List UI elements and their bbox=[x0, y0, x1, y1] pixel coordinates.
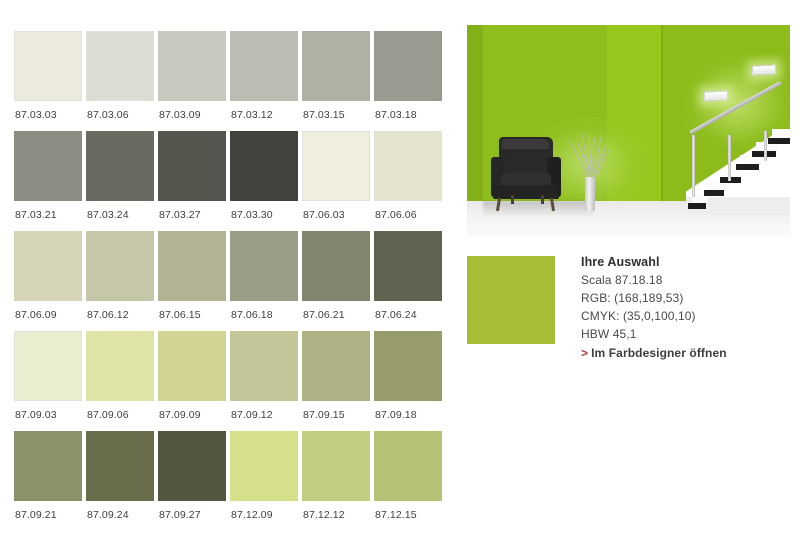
color-swatch[interactable] bbox=[86, 131, 154, 201]
color-swatch[interactable] bbox=[158, 331, 226, 401]
color-swatch-label: 87.09.24 bbox=[86, 501, 154, 521]
color-swatch[interactable] bbox=[158, 131, 226, 201]
color-swatch-label: 87.03.24 bbox=[86, 201, 154, 221]
selection-scala: Scala 87.18.18 bbox=[581, 271, 787, 289]
color-swatch[interactable] bbox=[230, 31, 298, 101]
color-swatch-label: 87.09.12 bbox=[230, 401, 298, 421]
color-swatch-label: 87.06.03 bbox=[302, 201, 370, 221]
color-swatch-label: 87.06.21 bbox=[302, 301, 370, 321]
wall-left-shadow bbox=[467, 25, 483, 201]
color-swatch-label: 87.09.03 bbox=[14, 401, 82, 421]
palette-cell: 87.09.18 bbox=[374, 331, 442, 431]
palette-cell: 87.09.06 bbox=[86, 331, 154, 431]
armchair-leg-front-right bbox=[550, 198, 555, 211]
stair-railing-post bbox=[692, 135, 695, 197]
palette-cell: 87.03.24 bbox=[86, 131, 154, 231]
palette-cell: 87.03.06 bbox=[86, 31, 154, 131]
palette-cell: 87.03.12 bbox=[230, 31, 298, 131]
staircase bbox=[672, 109, 790, 215]
selected-color-swatch[interactable] bbox=[467, 256, 555, 344]
armchair-leg-rear-left bbox=[511, 195, 514, 204]
color-swatch-label: 87.03.21 bbox=[14, 201, 82, 221]
armchair-back-highlight bbox=[502, 139, 549, 149]
palette-cell: 87.06.09 bbox=[14, 231, 82, 331]
color-swatch-label: 87.09.21 bbox=[14, 501, 82, 521]
palette-cell: 87.06.24 bbox=[374, 231, 442, 331]
palette-cell: 87.03.03 bbox=[14, 31, 82, 131]
color-swatch-label: 87.06.09 bbox=[14, 301, 82, 321]
palette-cell: 87.09.24 bbox=[86, 431, 154, 531]
color-swatch[interactable] bbox=[302, 431, 370, 501]
chevron-right-icon: > bbox=[581, 346, 588, 360]
palette-cell: 87.12.15 bbox=[374, 431, 442, 531]
wall-lamp-upper-icon bbox=[752, 64, 776, 75]
room-scene bbox=[467, 25, 790, 236]
palette-cell: 87.06.06 bbox=[374, 131, 442, 231]
color-swatch[interactable] bbox=[374, 331, 442, 401]
color-swatch[interactable] bbox=[158, 31, 226, 101]
color-swatch[interactable] bbox=[230, 331, 298, 401]
color-swatch-label: 87.09.15 bbox=[302, 401, 370, 421]
palette-cell: 87.03.21 bbox=[14, 131, 82, 231]
color-swatch[interactable] bbox=[86, 431, 154, 501]
palette-grid-container: 87.03.0387.03.0687.03.0987.03.1287.03.15… bbox=[14, 31, 452, 511]
color-swatch-label: 87.06.12 bbox=[86, 301, 154, 321]
color-swatch[interactable] bbox=[374, 131, 442, 201]
color-swatch[interactable] bbox=[302, 31, 370, 101]
color-swatch[interactable] bbox=[14, 431, 82, 501]
armchair-leg-rear-right bbox=[541, 195, 544, 204]
stair-tread bbox=[736, 164, 759, 170]
stair-tread bbox=[768, 138, 790, 144]
color-swatch[interactable] bbox=[14, 231, 82, 301]
palette-cell: 87.09.21 bbox=[14, 431, 82, 531]
palette-cell: 87.09.27 bbox=[158, 431, 226, 531]
color-swatch-label: 87.12.12 bbox=[302, 501, 370, 521]
palette-cell: 87.09.12 bbox=[230, 331, 298, 431]
color-swatch-label: 87.03.03 bbox=[14, 101, 82, 121]
open-color-designer-label: Im Farbdesigner öffnen bbox=[591, 346, 727, 360]
armchair bbox=[489, 137, 565, 211]
selection-title: Ihre Auswahl bbox=[581, 253, 787, 271]
color-swatch-label: 87.03.27 bbox=[158, 201, 226, 221]
palette-cell: 87.09.09 bbox=[158, 331, 226, 431]
palette-cell: 87.09.03 bbox=[14, 331, 82, 431]
palette-cell: 87.06.18 bbox=[230, 231, 298, 331]
color-swatch-label: 87.12.09 bbox=[230, 501, 298, 521]
palette-cell: 87.12.12 bbox=[302, 431, 370, 531]
color-swatch[interactable] bbox=[158, 231, 226, 301]
color-chart-page: 87.03.0387.03.0687.03.0987.03.1287.03.15… bbox=[0, 0, 800, 533]
palette-cell: 87.03.27 bbox=[158, 131, 226, 231]
selection-panel: Ihre Auswahl Scala 87.18.18 RGB: (168,18… bbox=[467, 256, 787, 376]
color-swatch-label: 87.06.18 bbox=[230, 301, 298, 321]
color-swatch-label: 87.09.27 bbox=[158, 501, 226, 521]
room-preview-image bbox=[467, 25, 790, 236]
color-swatch-label: 87.09.18 bbox=[374, 401, 442, 421]
wall-lamp-lower-icon bbox=[704, 90, 728, 101]
color-swatch-label: 87.03.18 bbox=[374, 101, 442, 121]
palette-cell: 87.06.03 bbox=[302, 131, 370, 231]
color-swatch[interactable] bbox=[14, 331, 82, 401]
selection-hbw: HBW 45,1 bbox=[581, 325, 787, 343]
stair-tread bbox=[704, 190, 724, 196]
palette-cell: 87.03.30 bbox=[230, 131, 298, 231]
stair-railing-post bbox=[728, 135, 731, 181]
palette-cell: 87.06.12 bbox=[86, 231, 154, 331]
palette-cell: 87.06.15 bbox=[158, 231, 226, 331]
color-swatch-label: 87.03.12 bbox=[230, 101, 298, 121]
color-swatch[interactable] bbox=[374, 231, 442, 301]
palette-cell: 87.09.15 bbox=[302, 331, 370, 431]
color-swatch[interactable] bbox=[14, 31, 82, 101]
color-swatch[interactable] bbox=[374, 31, 442, 101]
color-swatch-label: 87.03.09 bbox=[158, 101, 226, 121]
palette-cell: 87.12.09 bbox=[230, 431, 298, 531]
selection-rgb: RGB: (168,189,53) bbox=[581, 289, 787, 307]
color-swatch-label: 87.06.15 bbox=[158, 301, 226, 321]
color-swatch[interactable] bbox=[302, 231, 370, 301]
color-swatch[interactable] bbox=[14, 131, 82, 201]
color-swatch-label: 87.03.06 bbox=[86, 101, 154, 121]
armchair-leg-front-left bbox=[496, 198, 501, 211]
color-swatch[interactable] bbox=[86, 231, 154, 301]
palette-cell: 87.03.09 bbox=[158, 31, 226, 131]
color-swatch[interactable] bbox=[302, 331, 370, 401]
color-swatch-label: 87.03.30 bbox=[230, 201, 298, 221]
decorative-twigs bbox=[571, 133, 611, 181]
palette-grid: 87.03.0387.03.0687.03.0987.03.1287.03.15… bbox=[14, 31, 452, 531]
stair-tread bbox=[688, 203, 706, 209]
color-swatch-label: 87.06.24 bbox=[374, 301, 442, 321]
open-color-designer-link[interactable]: >Im Farbdesigner öffnen bbox=[581, 344, 727, 362]
stair-railing-post bbox=[764, 131, 767, 161]
palette-cell: 87.06.21 bbox=[302, 231, 370, 331]
selection-details: Ihre Auswahl Scala 87.18.18 RGB: (168,18… bbox=[581, 253, 787, 362]
color-swatch[interactable] bbox=[86, 331, 154, 401]
color-swatch-label: 87.12.15 bbox=[374, 501, 442, 521]
stair-riser bbox=[772, 129, 790, 138]
color-swatch[interactable] bbox=[230, 431, 298, 501]
color-swatch[interactable] bbox=[230, 231, 298, 301]
color-swatch-label: 87.09.06 bbox=[86, 401, 154, 421]
color-swatch[interactable] bbox=[158, 431, 226, 501]
color-swatch[interactable] bbox=[374, 431, 442, 501]
color-swatch[interactable] bbox=[230, 131, 298, 201]
color-swatch-label: 87.03.15 bbox=[302, 101, 370, 121]
color-swatch-label: 87.09.09 bbox=[158, 401, 226, 421]
color-swatch-label: 87.06.06 bbox=[374, 201, 442, 221]
floor-vase bbox=[585, 177, 595, 211]
palette-cell: 87.03.18 bbox=[374, 31, 442, 131]
palette-cell: 87.03.15 bbox=[302, 31, 370, 131]
color-swatch[interactable] bbox=[86, 31, 154, 101]
selection-cmyk: CMYK: (35,0,100,10) bbox=[581, 307, 787, 325]
color-swatch[interactable] bbox=[302, 131, 370, 201]
armchair-base bbox=[493, 185, 559, 199]
